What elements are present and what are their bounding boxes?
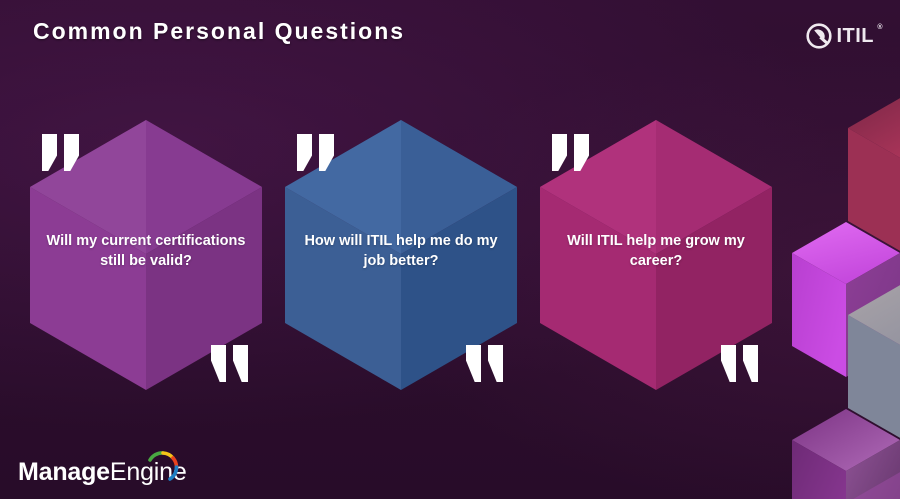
quote-wedge <box>233 345 248 382</box>
quote-wedge <box>64 134 79 171</box>
quote-wedge <box>574 134 589 171</box>
open-quote-icon <box>297 134 334 171</box>
itil-wordmark-wrap: ITIL ® <box>836 26 874 46</box>
cube-question-text: Will my current certifications still be … <box>44 231 248 271</box>
manageengine-logo: ManageEngine <box>18 460 187 485</box>
page-title: Common Personal Questions <box>33 18 405 45</box>
manageengine-bold-text: Manage <box>18 458 110 486</box>
quote-wedge <box>319 134 334 171</box>
quote-wedge <box>297 134 312 171</box>
quote-wedge <box>721 345 736 382</box>
cube-certifications[interactable]: Will my current certifications still be … <box>30 112 262 390</box>
cube-career[interactable]: Will ITIL help me grow my career? <box>540 112 772 390</box>
cube-question-text: How will ITIL help me do my job better? <box>299 231 503 271</box>
itil-logo: ITIL ® <box>806 23 874 49</box>
slide-canvas: Common Personal Questions ITIL ® <box>0 0 900 499</box>
cube-job[interactable]: How will ITIL help me do my job better? <box>285 112 517 390</box>
itil-trademark: ® <box>877 24 883 31</box>
manageengine-swoosh-icon <box>146 451 180 483</box>
close-quote-icon <box>721 345 758 382</box>
quote-wedge <box>488 345 503 382</box>
quote-wedge <box>42 134 57 171</box>
quote-wedge <box>466 345 481 382</box>
quote-wedge <box>552 134 567 171</box>
close-quote-icon <box>211 345 248 382</box>
quote-wedge <box>211 345 226 382</box>
open-quote-icon <box>552 134 589 171</box>
quote-wedge <box>743 345 758 382</box>
cube-question-text: Will ITIL help me grow my career? <box>554 231 758 271</box>
open-quote-icon <box>42 134 79 171</box>
itil-wordmark-text: ITIL <box>836 25 874 47</box>
itil-circle-logo-icon <box>806 23 832 49</box>
close-quote-icon <box>466 345 503 382</box>
cube-row: Will my current certifications still be … <box>0 112 900 412</box>
